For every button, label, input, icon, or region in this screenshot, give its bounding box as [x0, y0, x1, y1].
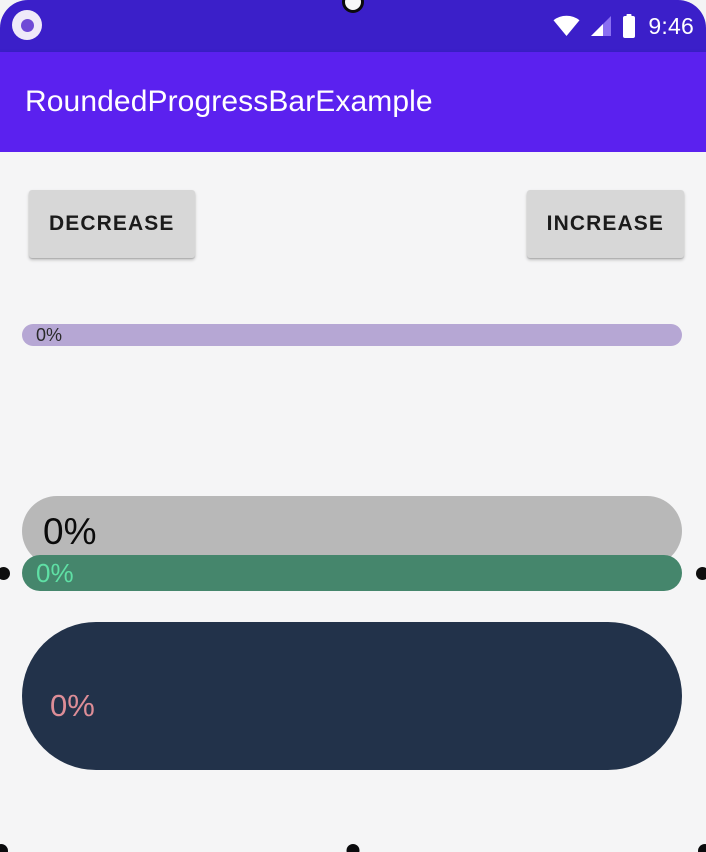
wifi-icon — [553, 15, 580, 37]
phone-screen: 9:46 RoundedProgressBarExample DECREASE … — [0, 0, 706, 852]
progress-bar-green-label: 0% — [36, 560, 74, 586]
edge-marker-left — [0, 567, 10, 580]
button-row: DECREASE INCREASE — [0, 190, 706, 260]
camera-notch — [342, 0, 364, 13]
edge-marker-right — [696, 567, 706, 580]
screen-corner-bottom-right — [698, 844, 706, 852]
cell-signal-icon — [589, 15, 613, 37]
screen-corner-bottom-center — [347, 844, 360, 852]
app-bar: RoundedProgressBarExample — [0, 52, 706, 152]
app-bar-title: RoundedProgressBarExample — [25, 85, 433, 119]
status-bar: 9:46 — [0, 0, 706, 52]
progress-bar-navy[interactable]: 0% — [22, 622, 682, 770]
increase-button[interactable]: INCREASE — [527, 190, 684, 258]
main-content: DECREASE INCREASE 0% 0% 0% 0% — [0, 152, 706, 852]
circle-ring-icon — [12, 10, 42, 40]
battery-full-icon — [622, 14, 636, 38]
status-bar-clock: 9:46 — [648, 15, 694, 38]
progress-bar-lavender-label: 0% — [36, 326, 62, 344]
progress-bar-lavender[interactable]: 0% — [22, 324, 682, 346]
progress-bar-green[interactable]: 0% — [22, 555, 682, 591]
progress-bar-navy-label: 0% — [50, 690, 95, 721]
status-bar-icons: 9:46 — [553, 0, 694, 52]
progress-bar-gray-label: 0% — [43, 513, 96, 550]
decrease-button[interactable]: DECREASE — [29, 190, 195, 258]
circle-ring-inner-dot — [21, 19, 34, 32]
